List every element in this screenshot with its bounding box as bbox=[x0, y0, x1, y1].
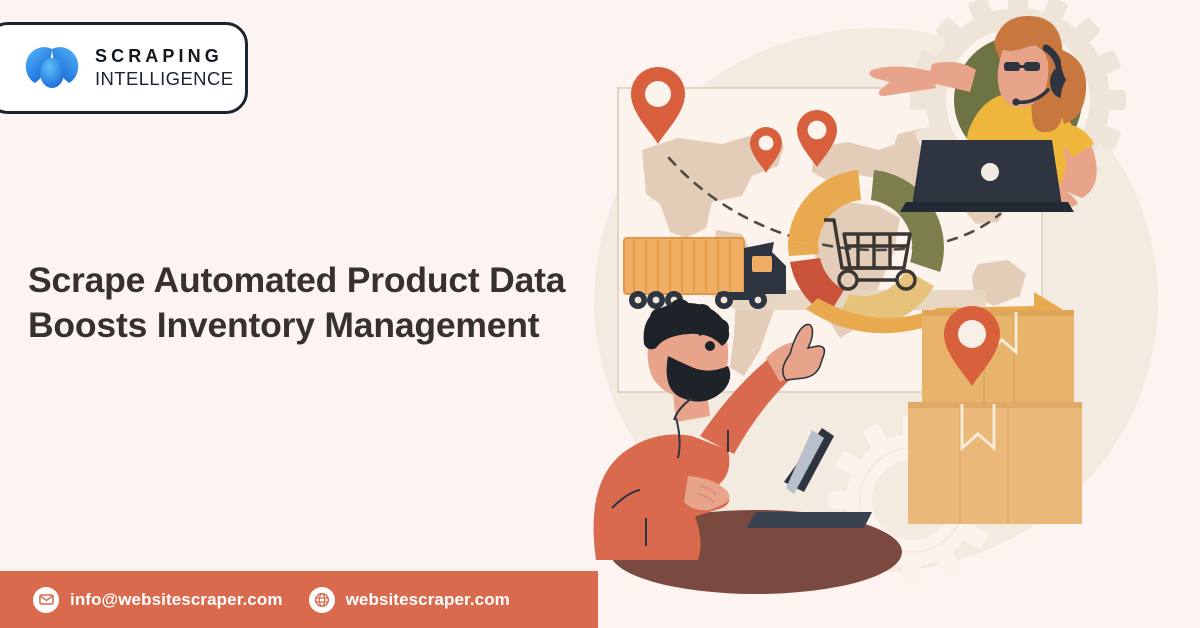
contact-footer-bar: info@websitescraper.com websitescraper.c… bbox=[0, 571, 598, 628]
contact-website-text: websitescraper.com bbox=[346, 590, 510, 610]
envelope-icon bbox=[33, 587, 59, 613]
illustration-inventory-management-scene bbox=[576, 0, 1200, 628]
logo-badge[interactable]: SCRAPING INTELLIGENCE bbox=[0, 22, 248, 114]
banner-canvas: SCRAPING INTELLIGENCE Scrape Automated P… bbox=[0, 0, 1200, 628]
logo-text-line1: SCRAPING bbox=[95, 46, 233, 68]
contact-website[interactable]: websitescraper.com bbox=[309, 587, 510, 613]
contact-email[interactable]: info@websitescraper.com bbox=[33, 587, 283, 613]
page-title: Scrape Automated Product Data Boosts Inv… bbox=[28, 258, 568, 347]
scraping-intelligence-petal-logo bbox=[23, 43, 81, 93]
cardboard-box-bottom bbox=[908, 402, 1082, 524]
logo-text-line2: INTELLIGENCE bbox=[95, 68, 233, 91]
globe-icon bbox=[309, 587, 335, 613]
contact-email-text: info@websitescraper.com bbox=[70, 590, 283, 610]
